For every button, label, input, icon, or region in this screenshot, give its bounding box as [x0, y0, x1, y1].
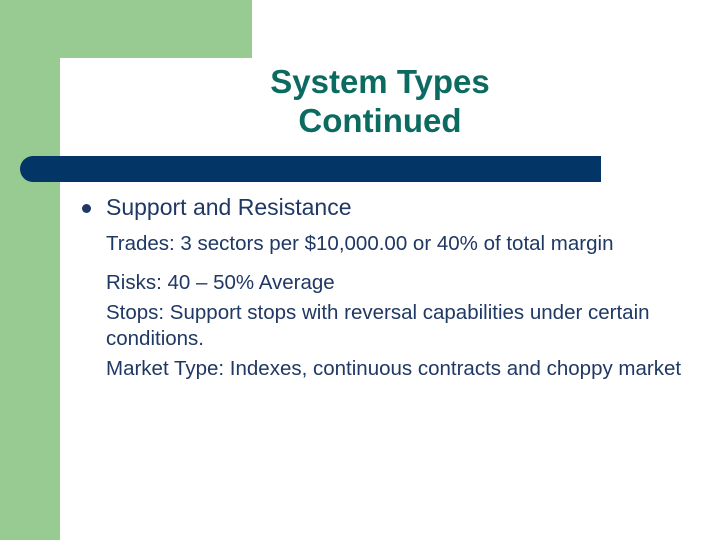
bullet-dot-icon [82, 204, 91, 213]
body-paragraph-risks: Risks: 40 – 50% Average [78, 270, 686, 296]
slide-title-line-1: System Types [120, 62, 640, 101]
slide-body: Support and Resistance Trades: 3 sectors… [78, 192, 688, 395]
body-paragraph-stops: Stops: Support stops with reversal capab… [78, 300, 686, 352]
body-paragraph-trades: Trades: 3 sectors per $10,000.00 or 40% … [78, 231, 686, 257]
bullet-item-support-and-resistance: Support and Resistance [78, 192, 688, 222]
green-accent-left-strip [0, 0, 60, 540]
slide-canvas: System Types Continued Support and Resis… [0, 0, 720, 540]
slide-title: System Types Continued [120, 62, 640, 140]
body-paragraph-market-type: Market Type: Indexes, continuous contrac… [78, 356, 686, 382]
slide-title-line-2: Continued [120, 101, 640, 140]
bullet-item-label: Support and Resistance [106, 194, 352, 220]
title-divider-bar [20, 156, 601, 182]
